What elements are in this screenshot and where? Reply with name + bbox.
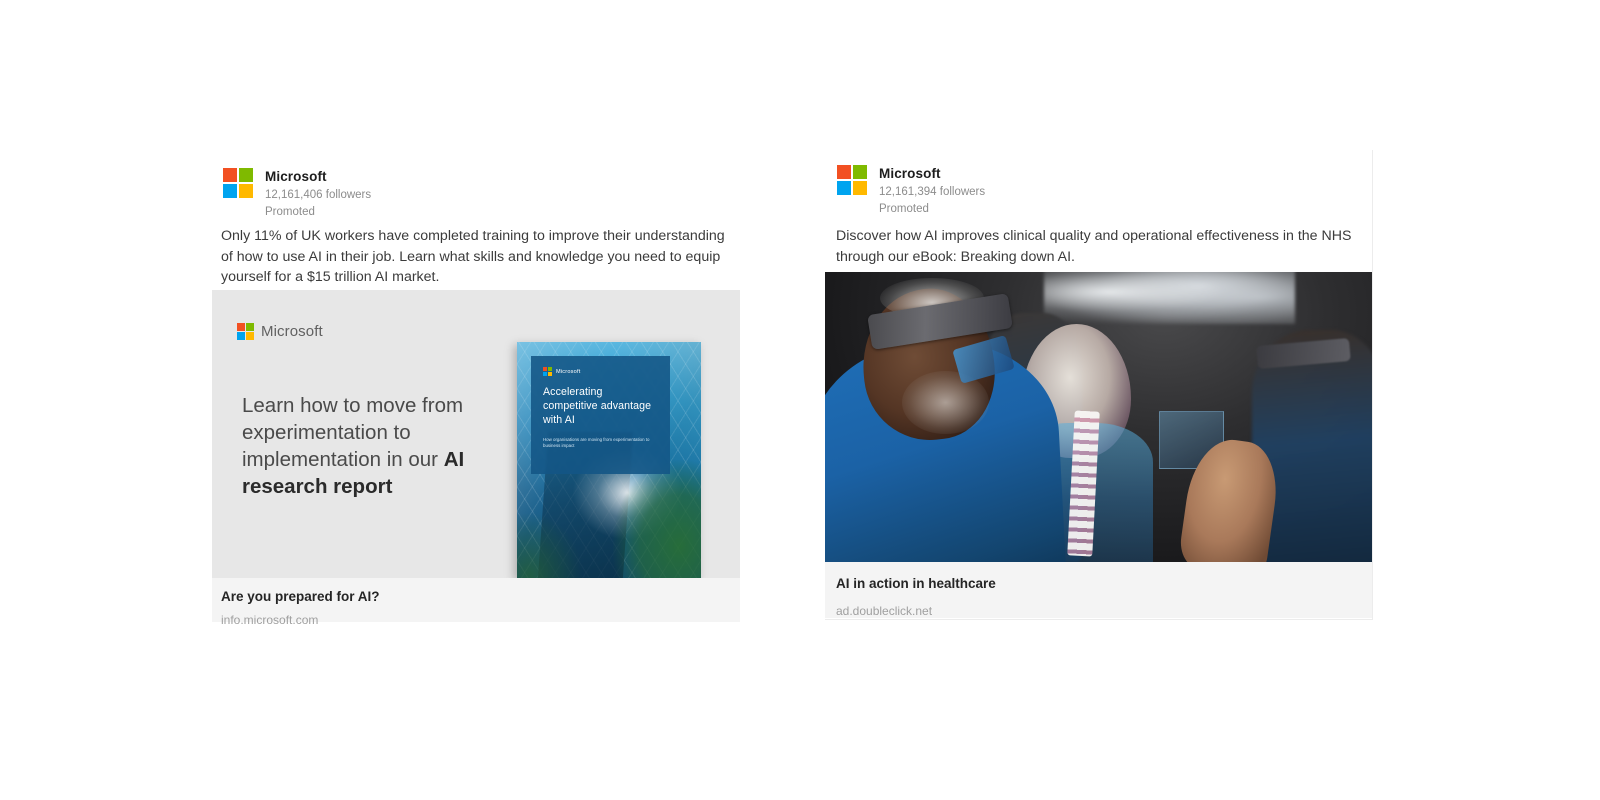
ad-header: Microsoft 12,161,394 followers Promoted: [837, 165, 1337, 217]
ebook-cover-thumbnail[interactable]: Microsoft Accelerating competitive advan…: [517, 342, 701, 578]
creative-headline-plain: Learn how to move from experimentation t…: [242, 394, 463, 471]
creative-headline: Learn how to move from experimentation t…: [242, 392, 502, 500]
ad-commentary: Only 11% of UK workers have completed tr…: [221, 226, 737, 288]
logo-square-yellow: [548, 372, 552, 376]
microsoft-logo-icon: [543, 367, 552, 376]
ad-footer-title: Are you prepared for AI?: [221, 588, 380, 606]
actor-block: Microsoft 12,161,406 followers Promoted: [265, 168, 371, 220]
logo-square-green: [239, 168, 253, 182]
creative-brand-row: Microsoft: [237, 323, 323, 340]
promoted-label: Promoted: [265, 204, 371, 221]
ad-footer[interactable]: AI in action in healthcare ad.doubleclic…: [825, 562, 1372, 618]
microsoft-logo-icon: [837, 165, 867, 195]
logo-square-blue: [543, 372, 547, 376]
ad-footer[interactable]: Are you prepared for AI? info.microsoft.…: [212, 578, 740, 622]
page-canvas: Microsoft 12,161,406 followers Promoted …: [0, 0, 1600, 800]
foliage-left: [517, 512, 583, 578]
actor-followers: 12,161,406 followers: [265, 187, 371, 204]
ad-footer-title: AI in action in healthcare: [836, 575, 996, 593]
logo-square-yellow: [239, 184, 253, 198]
foliage-right: [613, 460, 701, 578]
logo-square-green: [853, 165, 867, 179]
microsoft-logo-icon: [237, 323, 254, 340]
ad-card-ai-in-healthcare[interactable]: Microsoft 12,161,394 followers Promoted …: [825, 150, 1373, 620]
ebook-title: Accelerating competitive advantage with …: [543, 385, 658, 428]
surgical-lights: [1044, 272, 1296, 324]
ebook-brand-wordmark: Microsoft: [556, 369, 581, 375]
actor-block: Microsoft 12,161,394 followers Promoted: [879, 165, 985, 217]
ad-creative-photo[interactable]: [825, 272, 1372, 562]
logo-square-red: [837, 165, 851, 179]
ad-footer-url[interactable]: info.microsoft.com: [221, 612, 318, 629]
logo-square-red: [223, 168, 237, 182]
microsoft-logo-icon: [223, 168, 253, 198]
ebook-brand-row: Microsoft: [543, 367, 658, 376]
promoted-label: Promoted: [879, 201, 985, 218]
logo-square-blue: [237, 332, 245, 340]
logo-square-green: [246, 323, 254, 331]
logo-square-red: [237, 323, 245, 331]
ad-footer-url[interactable]: ad.doubleclick.net: [836, 603, 932, 620]
logo-square-yellow: [246, 332, 254, 340]
logo-square-green: [548, 367, 552, 371]
ebook-title-panel: Microsoft Accelerating competitive advan…: [531, 356, 670, 474]
actor-name[interactable]: Microsoft: [265, 169, 371, 186]
surgeon-beard: [902, 371, 990, 435]
actor-name[interactable]: Microsoft: [879, 166, 985, 183]
ad-header: Microsoft 12,161,406 followers Promoted: [223, 168, 723, 220]
logo-square-red: [543, 367, 547, 371]
microsoft-wordmark: Microsoft: [261, 323, 323, 340]
logo-square-blue: [223, 184, 237, 198]
actor-followers: 12,161,394 followers: [879, 184, 985, 201]
ad-card-ai-research-report[interactable]: Microsoft 12,161,406 followers Promoted …: [212, 160, 740, 622]
logo-square-yellow: [853, 181, 867, 195]
logo-square-blue: [837, 181, 851, 195]
ad-commentary: Discover how AI improves clinical qualit…: [836, 226, 1360, 267]
ebook-subtitle: How organisations are moving from experi…: [543, 437, 658, 450]
